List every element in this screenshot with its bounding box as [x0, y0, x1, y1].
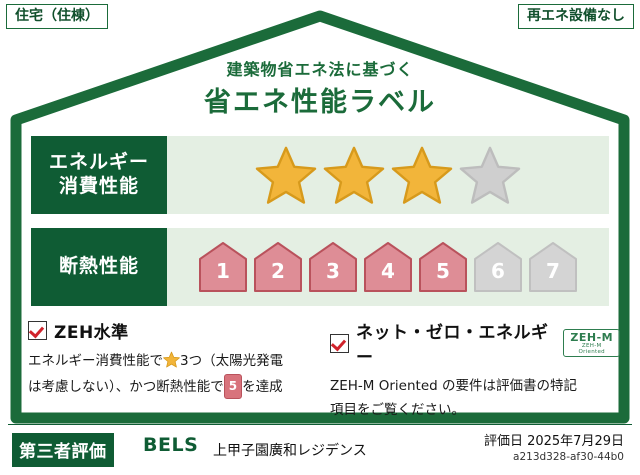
row-insulation-body: 1 2 3 4	[167, 228, 609, 306]
building-name: 上甲子園廣和レジデンス	[213, 440, 367, 460]
page-title: 省エネ性能ラベル	[0, 80, 640, 119]
star-icon-filled-1	[255, 145, 317, 205]
zeh-text-a: エネルギー消費性能で	[28, 353, 163, 369]
net-zero-energy-heading: ネット・ゼロ・エネルギー ZEH-M ZEH-M Oriented	[330, 318, 620, 368]
house-label-6: 6	[472, 259, 524, 283]
house-label-3: 3	[307, 259, 359, 283]
zeh-standard-block: ZEH水準 エネルギー消費性能で3つ（太陽光発電 は考慮しない）、かつ断熱性能で…	[28, 318, 318, 399]
zeh-m-mark-main: ZEH-M	[569, 332, 614, 343]
star-icon-filled-3	[391, 145, 453, 205]
zeh-standard-text: エネルギー消費性能で3つ（太陽光発電 は考慮しない）、かつ断熱性能で5を達成	[28, 350, 318, 399]
house-icon-level-3: 3	[307, 239, 359, 295]
tag-renewable-equipment: 再エネ設備なし	[518, 4, 634, 29]
star-rating	[255, 145, 521, 205]
header-subtitle: 建築物省エネ法に基づく	[0, 56, 640, 80]
star-icon-empty-4	[459, 145, 521, 205]
star-icon-filled-2	[323, 145, 385, 205]
net-zero-energy-text: ZEH-M Oriented の要件は評価書の特記 項目をご覧ください。	[330, 375, 620, 422]
bels-logo-text: BELS	[143, 434, 198, 456]
row-insulation-caption: 断熱性能	[31, 228, 167, 306]
footer-divider	[8, 424, 632, 425]
house-icon-level-4: 4	[362, 239, 414, 295]
house-label-5: 5	[417, 259, 469, 283]
row-energy-body	[167, 136, 609, 214]
insulation-level-badge: 5	[224, 374, 242, 399]
zeh-text-b: 3つ（太陽光発電	[180, 353, 283, 369]
evaluation-id: a213d328-af30-44b0	[513, 451, 624, 463]
net-zero-energy-block: ネット・ゼロ・エネルギー ZEH-M ZEH-M Oriented ZEH-M …	[330, 318, 620, 422]
net-zero-energy-title: ネット・ゼロ・エネルギー	[356, 318, 550, 368]
zeh-text-c: は考慮しない）、かつ断熱性能で	[28, 379, 224, 395]
row-insulation-caption-text: 断熱性能	[59, 255, 139, 279]
house-icon-level-2: 2	[252, 239, 304, 295]
tag-building-type: 住宅（住棟）	[6, 4, 108, 29]
insulation-level-scale: 1 2 3 4	[197, 239, 579, 295]
checkbox-checked-icon	[28, 321, 47, 340]
checkbox-checked-icon-2	[330, 334, 349, 353]
third-party-evaluation-badge: 第三者評価	[12, 433, 114, 467]
house-label-1: 1	[197, 259, 249, 283]
zeh-m-mark-sub: ZEH-M Oriented	[569, 344, 614, 355]
house-label-2: 2	[252, 259, 304, 283]
star-icon-inline	[163, 351, 180, 368]
house-icon-level-5: 5	[417, 239, 469, 295]
row-energy-caption-line1: エネルギー	[49, 151, 149, 175]
row-energy-caption: エネルギー 消費性能	[31, 136, 167, 214]
energy-performance-label: 住宅（住棟） 再エネ設備なし 建築物省エネ法に基づく 省エネ性能ラベル エネルギ…	[0, 0, 640, 475]
zeh-text-d: を達成	[242, 379, 283, 395]
row-insulation-performance: 断熱性能 1 2	[31, 228, 609, 306]
zeh-standard-heading: ZEH水準	[28, 318, 318, 343]
footer: 第三者評価 BELS 上甲子園廣和レジデンス 評価日 2025年7月29日 a2…	[0, 430, 640, 475]
zeh-m-mark-icon: ZEH-M ZEH-M Oriented	[563, 329, 620, 357]
evaluation-date: 評価日 2025年7月29日	[484, 430, 624, 449]
row-energy-caption-line2: 消費性能	[59, 175, 139, 199]
house-icon-level-6: 6	[472, 239, 524, 295]
nze-text-a: ZEH-M Oriented の要件は評価書の特記	[330, 378, 577, 394]
nze-text-b: 項目をご覧ください。	[330, 402, 465, 418]
row-energy-performance: エネルギー 消費性能	[31, 136, 609, 214]
house-label-7: 7	[527, 259, 579, 283]
house-label-4: 4	[362, 259, 414, 283]
zeh-standard-title: ZEH水準	[54, 318, 129, 343]
house-icon-level-7: 7	[527, 239, 579, 295]
house-icon-level-1: 1	[197, 239, 249, 295]
